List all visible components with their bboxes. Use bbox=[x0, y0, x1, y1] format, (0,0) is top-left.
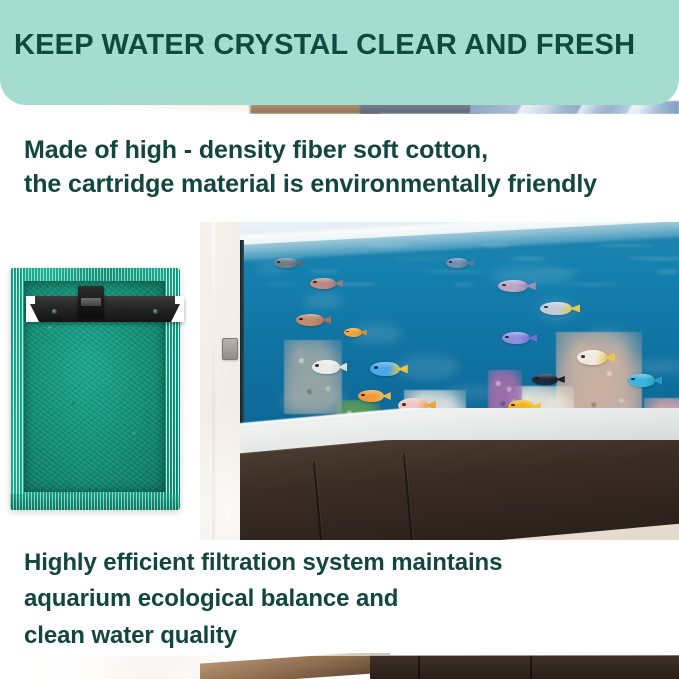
water-ripple bbox=[308, 270, 340, 273]
water-ripple bbox=[424, 270, 484, 273]
fish-orange-tang-eye bbox=[361, 394, 365, 396]
fish-dark-tang bbox=[532, 374, 558, 385]
fish-butterfly-stripe-body bbox=[577, 350, 607, 365]
fish-royal-blue bbox=[628, 374, 655, 387]
photo-band bbox=[0, 222, 679, 540]
frame-bevel-left bbox=[26, 296, 39, 322]
product-photo-filter-cartridge bbox=[0, 222, 200, 540]
feature-text-bottom-line-1: Highly efficient filtration system maint… bbox=[0, 545, 679, 581]
bottom-sliver-top-edge bbox=[0, 653, 679, 656]
frame-rivet-right bbox=[153, 309, 158, 314]
water-ripple bbox=[569, 283, 618, 286]
fish-rainbow-tang-eye bbox=[402, 403, 406, 406]
fish-mini-blue bbox=[446, 258, 468, 268]
fish-butterfly-stripe bbox=[577, 350, 607, 365]
fish-mini-blue-body bbox=[446, 258, 468, 268]
clip-tab-slot bbox=[81, 298, 101, 306]
frame-rivet-left bbox=[52, 309, 57, 314]
feature-text-bottom: Highly efficient filtration system maint… bbox=[0, 545, 679, 654]
frame-bevel-right bbox=[171, 296, 184, 322]
header-banner: KEEP WATER CRYSTAL CLEAR AND FRESH bbox=[0, 0, 679, 105]
fish-small-red-body bbox=[310, 278, 336, 289]
fish-silver-yellowtail bbox=[540, 302, 572, 315]
infographic-page: KEEP WATER CRYSTAL CLEAR AND FRESH Made … bbox=[0, 0, 679, 679]
fish-butterfly-stripe-eye bbox=[581, 355, 585, 358]
filter-pad-clip-tab bbox=[78, 286, 104, 318]
water-ripple bbox=[395, 257, 448, 260]
filter-pad-black-frame bbox=[26, 296, 184, 322]
fish-grey-top bbox=[274, 258, 298, 268]
fish-small-red bbox=[310, 278, 336, 289]
fish-orange-tang-body bbox=[358, 390, 384, 402]
banner-title: KEEP WATER CRYSTAL CLEAR AND FRESH bbox=[14, 31, 635, 60]
fish-copper bbox=[296, 314, 324, 326]
coral-rock-left-texture bbox=[284, 340, 342, 414]
water-ripple bbox=[265, 283, 296, 286]
fish-purple-stripe-eye bbox=[502, 284, 506, 286]
fish-dark-tang-body bbox=[532, 374, 558, 385]
water-ripple bbox=[453, 283, 474, 286]
fish-purple-stripe-body bbox=[498, 280, 528, 292]
fish-royal-blue-body bbox=[628, 374, 655, 387]
fish-blue-yellowtail-body bbox=[370, 362, 400, 376]
feature-text-bottom-line-3: clean water quality bbox=[0, 618, 679, 654]
water-ripple bbox=[511, 257, 546, 260]
fish-blue-violet bbox=[502, 332, 530, 344]
scene-photo-reef-aquarium bbox=[200, 222, 679, 540]
fish-tiny-orange-body bbox=[344, 328, 362, 337]
feature-text-top-line-2: the cartridge material is environmentall… bbox=[0, 168, 679, 202]
fish-tiny-orange bbox=[344, 328, 362, 337]
water-ripple bbox=[598, 244, 654, 247]
feature-text-bottom-line-2: aquarium ecological balance and bbox=[0, 581, 679, 617]
water-caustic bbox=[303, 293, 344, 308]
light-switch bbox=[222, 338, 238, 360]
water-ripple bbox=[337, 283, 376, 286]
fish-orange-tang bbox=[358, 390, 384, 402]
bottom-sliver-fade bbox=[0, 653, 679, 679]
fish-copper-body bbox=[296, 314, 324, 326]
fish-angel-stripe bbox=[312, 360, 340, 374]
feature-text-top: Made of high - density fiber soft cotton… bbox=[0, 134, 679, 202]
fish-blue-violet-body bbox=[502, 332, 530, 344]
aquarium-cabinet bbox=[240, 440, 679, 540]
fish-grey-top-body bbox=[274, 258, 298, 268]
fish-silver-yellowtail-body bbox=[540, 302, 572, 315]
feature-text-top-line-1: Made of high - density fiber soft cotton… bbox=[0, 134, 679, 168]
water-ripple bbox=[540, 270, 582, 273]
filter-pad-bottom-seam bbox=[10, 494, 180, 510]
bottom-photo-sliver bbox=[0, 653, 679, 679]
fish-blue-yellowtail-eye bbox=[374, 366, 378, 369]
filter-pad bbox=[10, 268, 180, 510]
fish-mini-blue-eye bbox=[449, 261, 452, 263]
fish-blue-yellowtail bbox=[370, 362, 400, 376]
water-ripple bbox=[656, 270, 679, 273]
cabinet-body bbox=[240, 440, 679, 540]
fish-purple-stripe bbox=[498, 280, 528, 292]
fish-angel-stripe-body bbox=[312, 360, 340, 374]
